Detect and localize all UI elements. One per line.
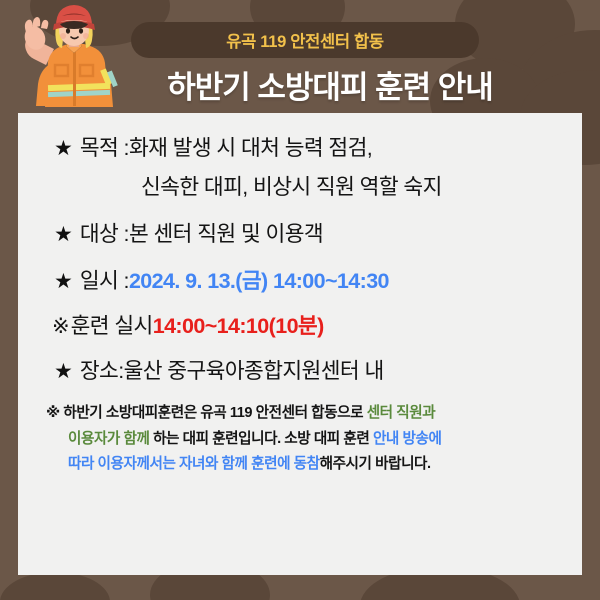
datetime-label: 일시 : — [80, 264, 129, 295]
footnote-l2-b: 하는 대피 훈련입니다. 소방 대피 훈련 — [149, 431, 372, 447]
datetime-value: 2024. 9. 13.(금) 14:00~14:30 — [129, 264, 389, 295]
footnote-block: ※ 하반기 소방대피훈련은 유곡 119 안전센터 합동으로 센터 직원과 이용… — [46, 401, 556, 478]
info-row-purpose: ★ 목적 : 화재 발생 시 대처 능력 점검, — [54, 131, 372, 162]
page-title: 하반기 소방대피 훈련 안내 — [100, 60, 560, 108]
target-label: 대상 : — [80, 217, 129, 248]
target-value: 본 센터 직원 및 이용객 — [129, 217, 323, 248]
star-bullet-icon: ★ — [54, 271, 73, 292]
drill-value: 14:00~14:10(10분) — [153, 309, 324, 340]
info-row-place: ★ 장소: 울산 중구육아종합지원센터 내 — [54, 354, 384, 385]
purpose-line1: 화재 발생 시 대처 능력 점검, — [129, 131, 372, 162]
footnote-l1-highlight: 센터 직원과 — [367, 405, 436, 421]
footnote-l3-highlight: 따라 이용자께서는 자녀와 함께 훈련에 동참 — [68, 456, 320, 472]
star-bullet-icon: ★ — [54, 138, 73, 159]
star-bullet-icon: ★ — [54, 361, 73, 382]
purpose-label: 목적 : — [80, 131, 129, 162]
footnote-line-2: 이용자가 함께 하는 대피 훈련입니다. 소방 대피 훈련 안내 방송에 — [46, 427, 556, 453]
info-row-target: ★ 대상 : 본 센터 직원 및 이용객 — [54, 217, 323, 248]
reference-mark-icon: ※ — [52, 314, 70, 339]
purpose-line2: 신속한 대피, 비상시 직원 역할 숙지 — [141, 170, 442, 201]
content-card: ★ 목적 : 화재 발생 시 대처 능력 점검, 신속한 대피, 비상시 직원 … — [18, 113, 582, 575]
header-badge: 유곡 119 안전센터 합동 — [131, 22, 479, 58]
info-row-drill: ※ 훈련 실시 14:00~14:10(10분) — [52, 309, 324, 340]
footnote-l2-highlight-2: 안내 방송에 — [373, 431, 442, 447]
footnote-line-3: 따라 이용자께서는 자녀와 함께 훈련에 동참해주시기 바랍니다. — [46, 452, 556, 478]
star-bullet-icon: ★ — [54, 224, 73, 245]
header-badge-text: 유곡 119 안전센터 합동 — [226, 28, 384, 52]
info-row-datetime: ★ 일시 : 2024. 9. 13.(금) 14:00~14:30 — [54, 264, 389, 295]
footnote-l2-highlight: 이용자가 함께 — [68, 431, 149, 447]
footnote-l3-b: 해주시기 바랍니다. — [320, 456, 431, 472]
footnote-line-1: ※ 하반기 소방대피훈련은 유곡 119 안전센터 합동으로 센터 직원과 — [46, 401, 556, 427]
poster-header: 유곡 119 안전센터 합동 하반기 소방대피 훈련 안내 — [0, 0, 600, 115]
footnote-l1-a: ※ 하반기 소방대피훈련은 유곡 119 안전센터 합동으로 — [46, 405, 367, 421]
info-row-purpose-cont: 신속한 대피, 비상시 직원 역할 숙지 — [141, 170, 442, 201]
poster-root: 유곡 119 안전센터 합동 하반기 소방대피 훈련 안내 ★ 목적 : 화재 … — [0, 0, 600, 600]
drill-label: 훈련 실시 — [71, 309, 153, 340]
smoke-puff — [0, 572, 110, 600]
place-value: 울산 중구육아종합지원센터 내 — [124, 354, 384, 385]
place-label: 장소: — [80, 354, 124, 385]
